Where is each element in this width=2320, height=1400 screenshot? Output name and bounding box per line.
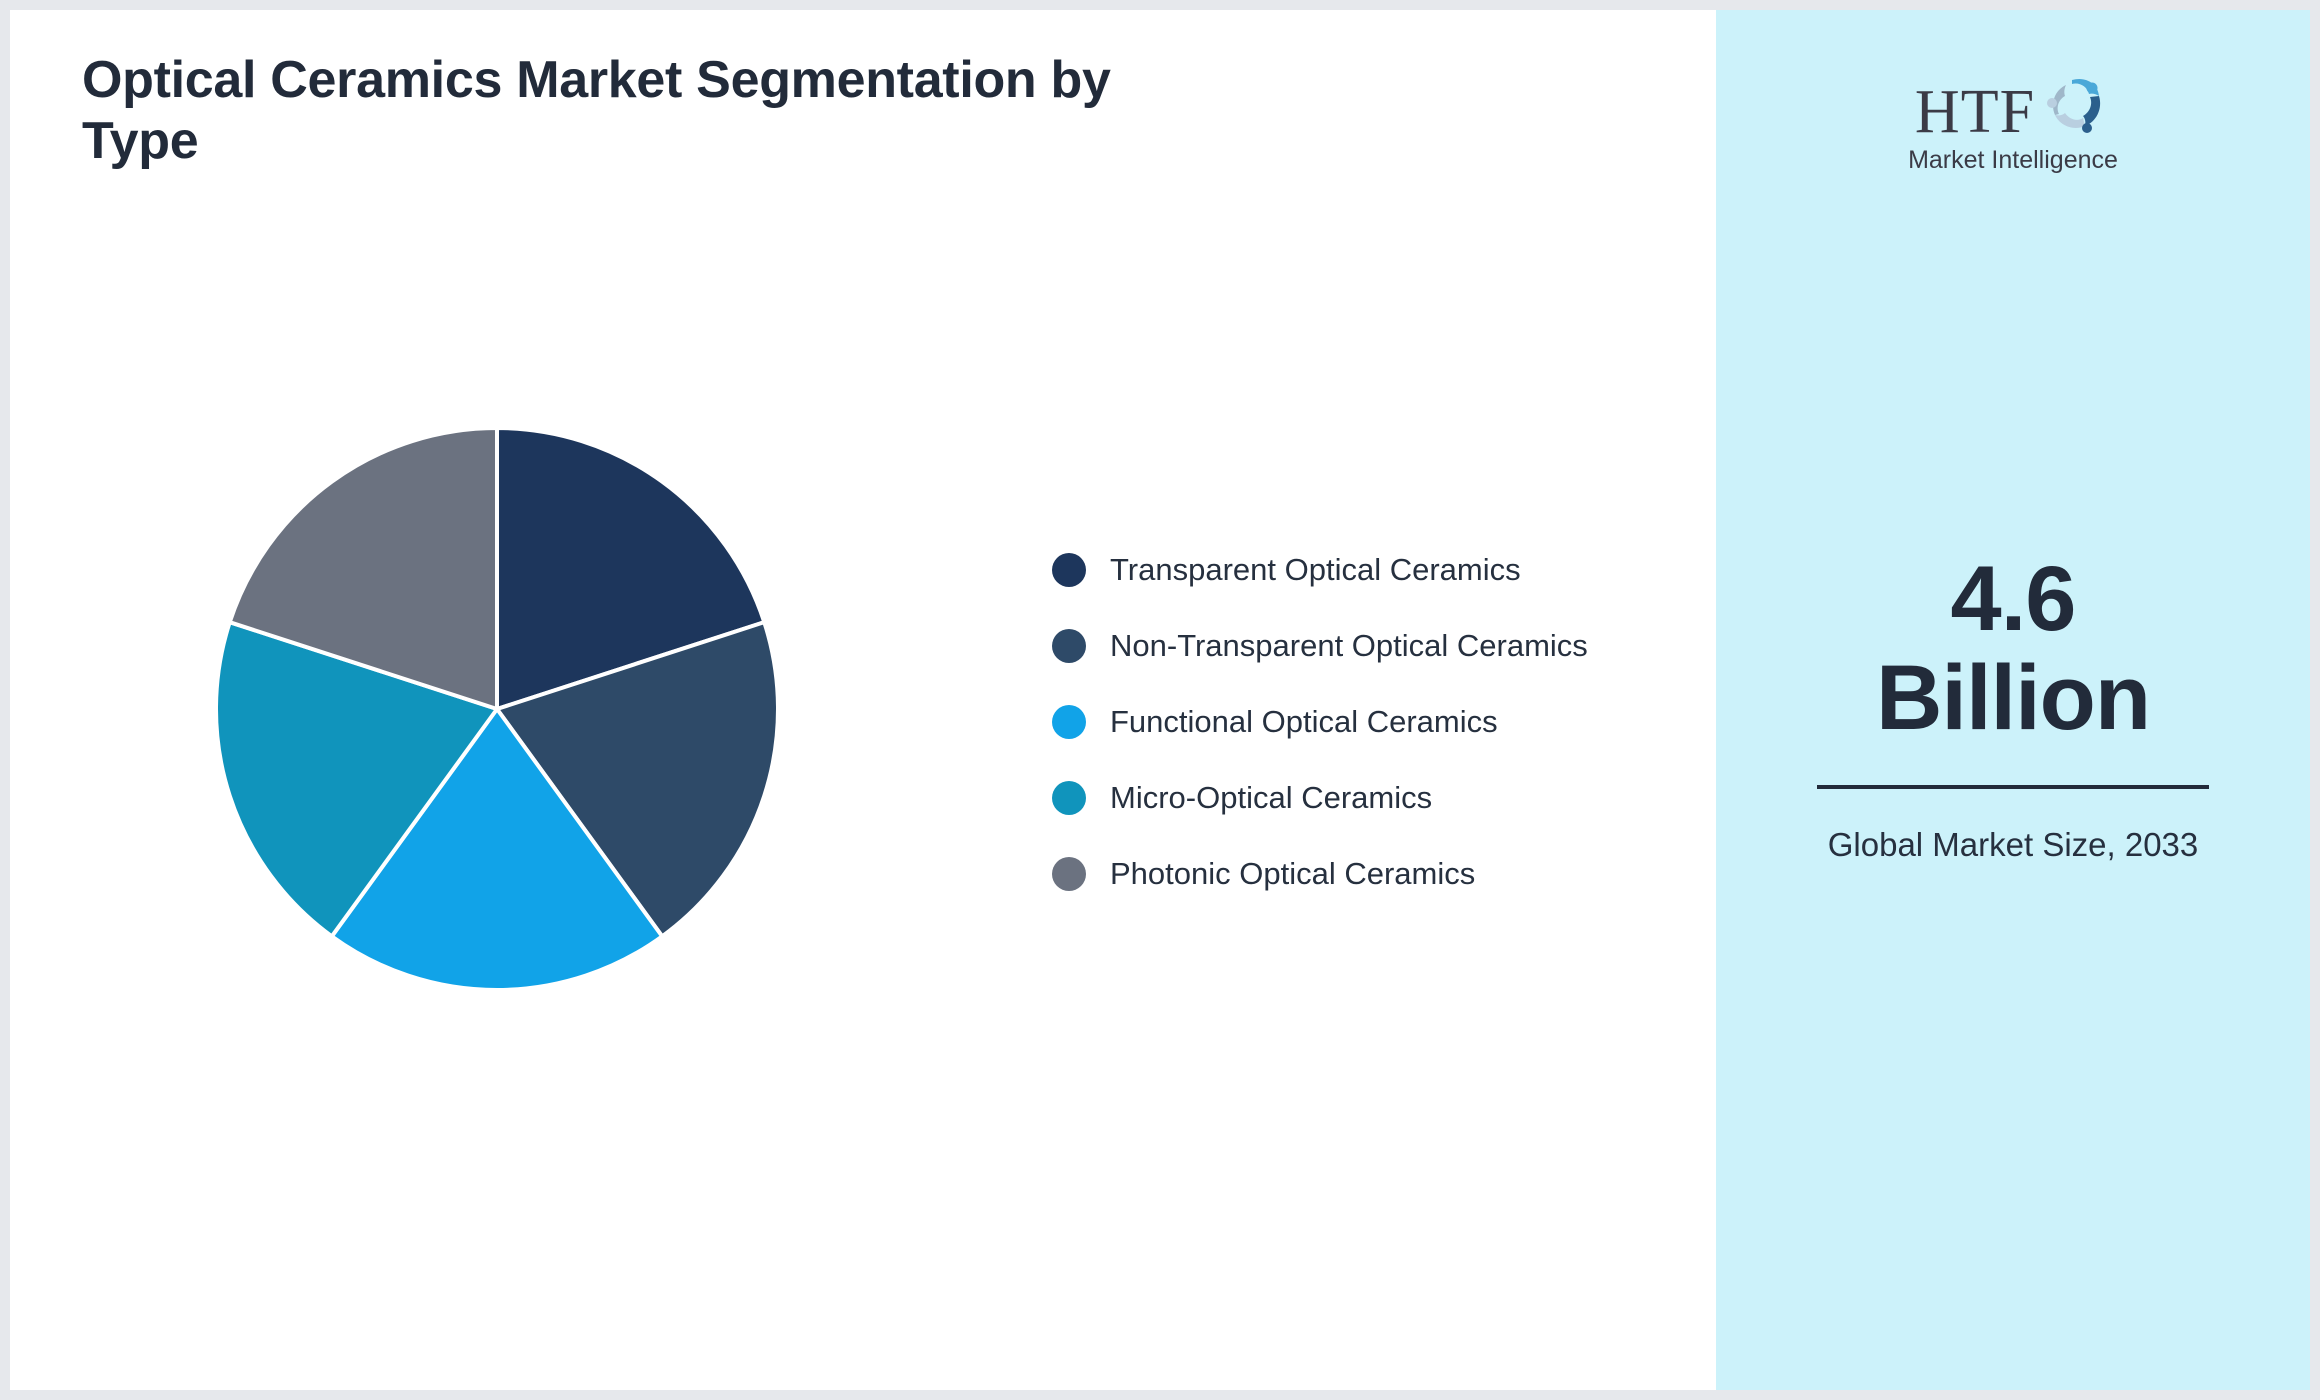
legend-item-photonic-optical-ceramics[interactable]: Photonic Optical Ceramics [1052,836,1672,912]
stat-value-line-1: 4.6 [1876,550,2150,649]
infographic-card: Optical Ceramics Market Segmentation by … [10,10,2310,1390]
pie-slice-group [216,428,778,990]
title-block: Optical Ceramics Market Segmentation by … [82,50,1182,172]
legend-item-label: Functional Optical Ceramics [1110,704,1498,740]
stat-divider [1817,785,2209,789]
legend-item-functional-optical-ceramics[interactable]: Functional Optical Ceramics [1052,684,1672,760]
pie-chart [216,428,778,990]
legend-swatch-icon [1052,629,1086,663]
page-title: Optical Ceramics Market Segmentation by … [82,50,1182,172]
legend-item-transparent-optical-ceramics[interactable]: Transparent Optical Ceramics [1052,532,1672,608]
chart-legend: Transparent Optical Ceramics Non-Transpa… [1052,532,1672,912]
legend-swatch-icon [1052,857,1086,891]
legend-item-non-transparent-optical-ceramics[interactable]: Non-Transparent Optical Ceramics [1052,608,1672,684]
legend-item-label: Non-Transparent Optical Ceramics [1110,628,1588,664]
highlight-panel: HTF Market Intel [1716,10,2310,1390]
legend-swatch-icon [1052,553,1086,587]
stat-value: 4.6 Billion [1876,550,2150,749]
stat-caption: Global Market Size, 2033 [1813,823,2213,868]
legend-item-label: Micro-Optical Ceramics [1110,780,1432,816]
legend-swatch-icon [1052,781,1086,815]
legend-item-micro-optical-ceramics[interactable]: Micro-Optical Ceramics [1052,760,1672,836]
brand-name: HTF [1915,82,2035,142]
brand-tagline: Market Intelligence [1908,146,2118,175]
htf-people-circle-logo-icon [2037,72,2111,142]
brand-logo: HTF Market Intel [1716,72,2310,175]
brand-logo-main: HTF [1915,72,2111,142]
chart-area: Transparent Optical Ceramics Non-Transpa… [10,310,1716,1110]
chart-panel: Optical Ceramics Market Segmentation by … [10,10,1716,1390]
stat-value-line-2: Billion [1876,649,2150,748]
legend-swatch-icon [1052,705,1086,739]
legend-item-label: Photonic Optical Ceramics [1110,856,1475,892]
stat-block: 4.6 Billion Global Market Size, 2033 [1716,550,2310,867]
pie-chart-svg [216,428,778,990]
legend-item-label: Transparent Optical Ceramics [1110,552,1521,588]
